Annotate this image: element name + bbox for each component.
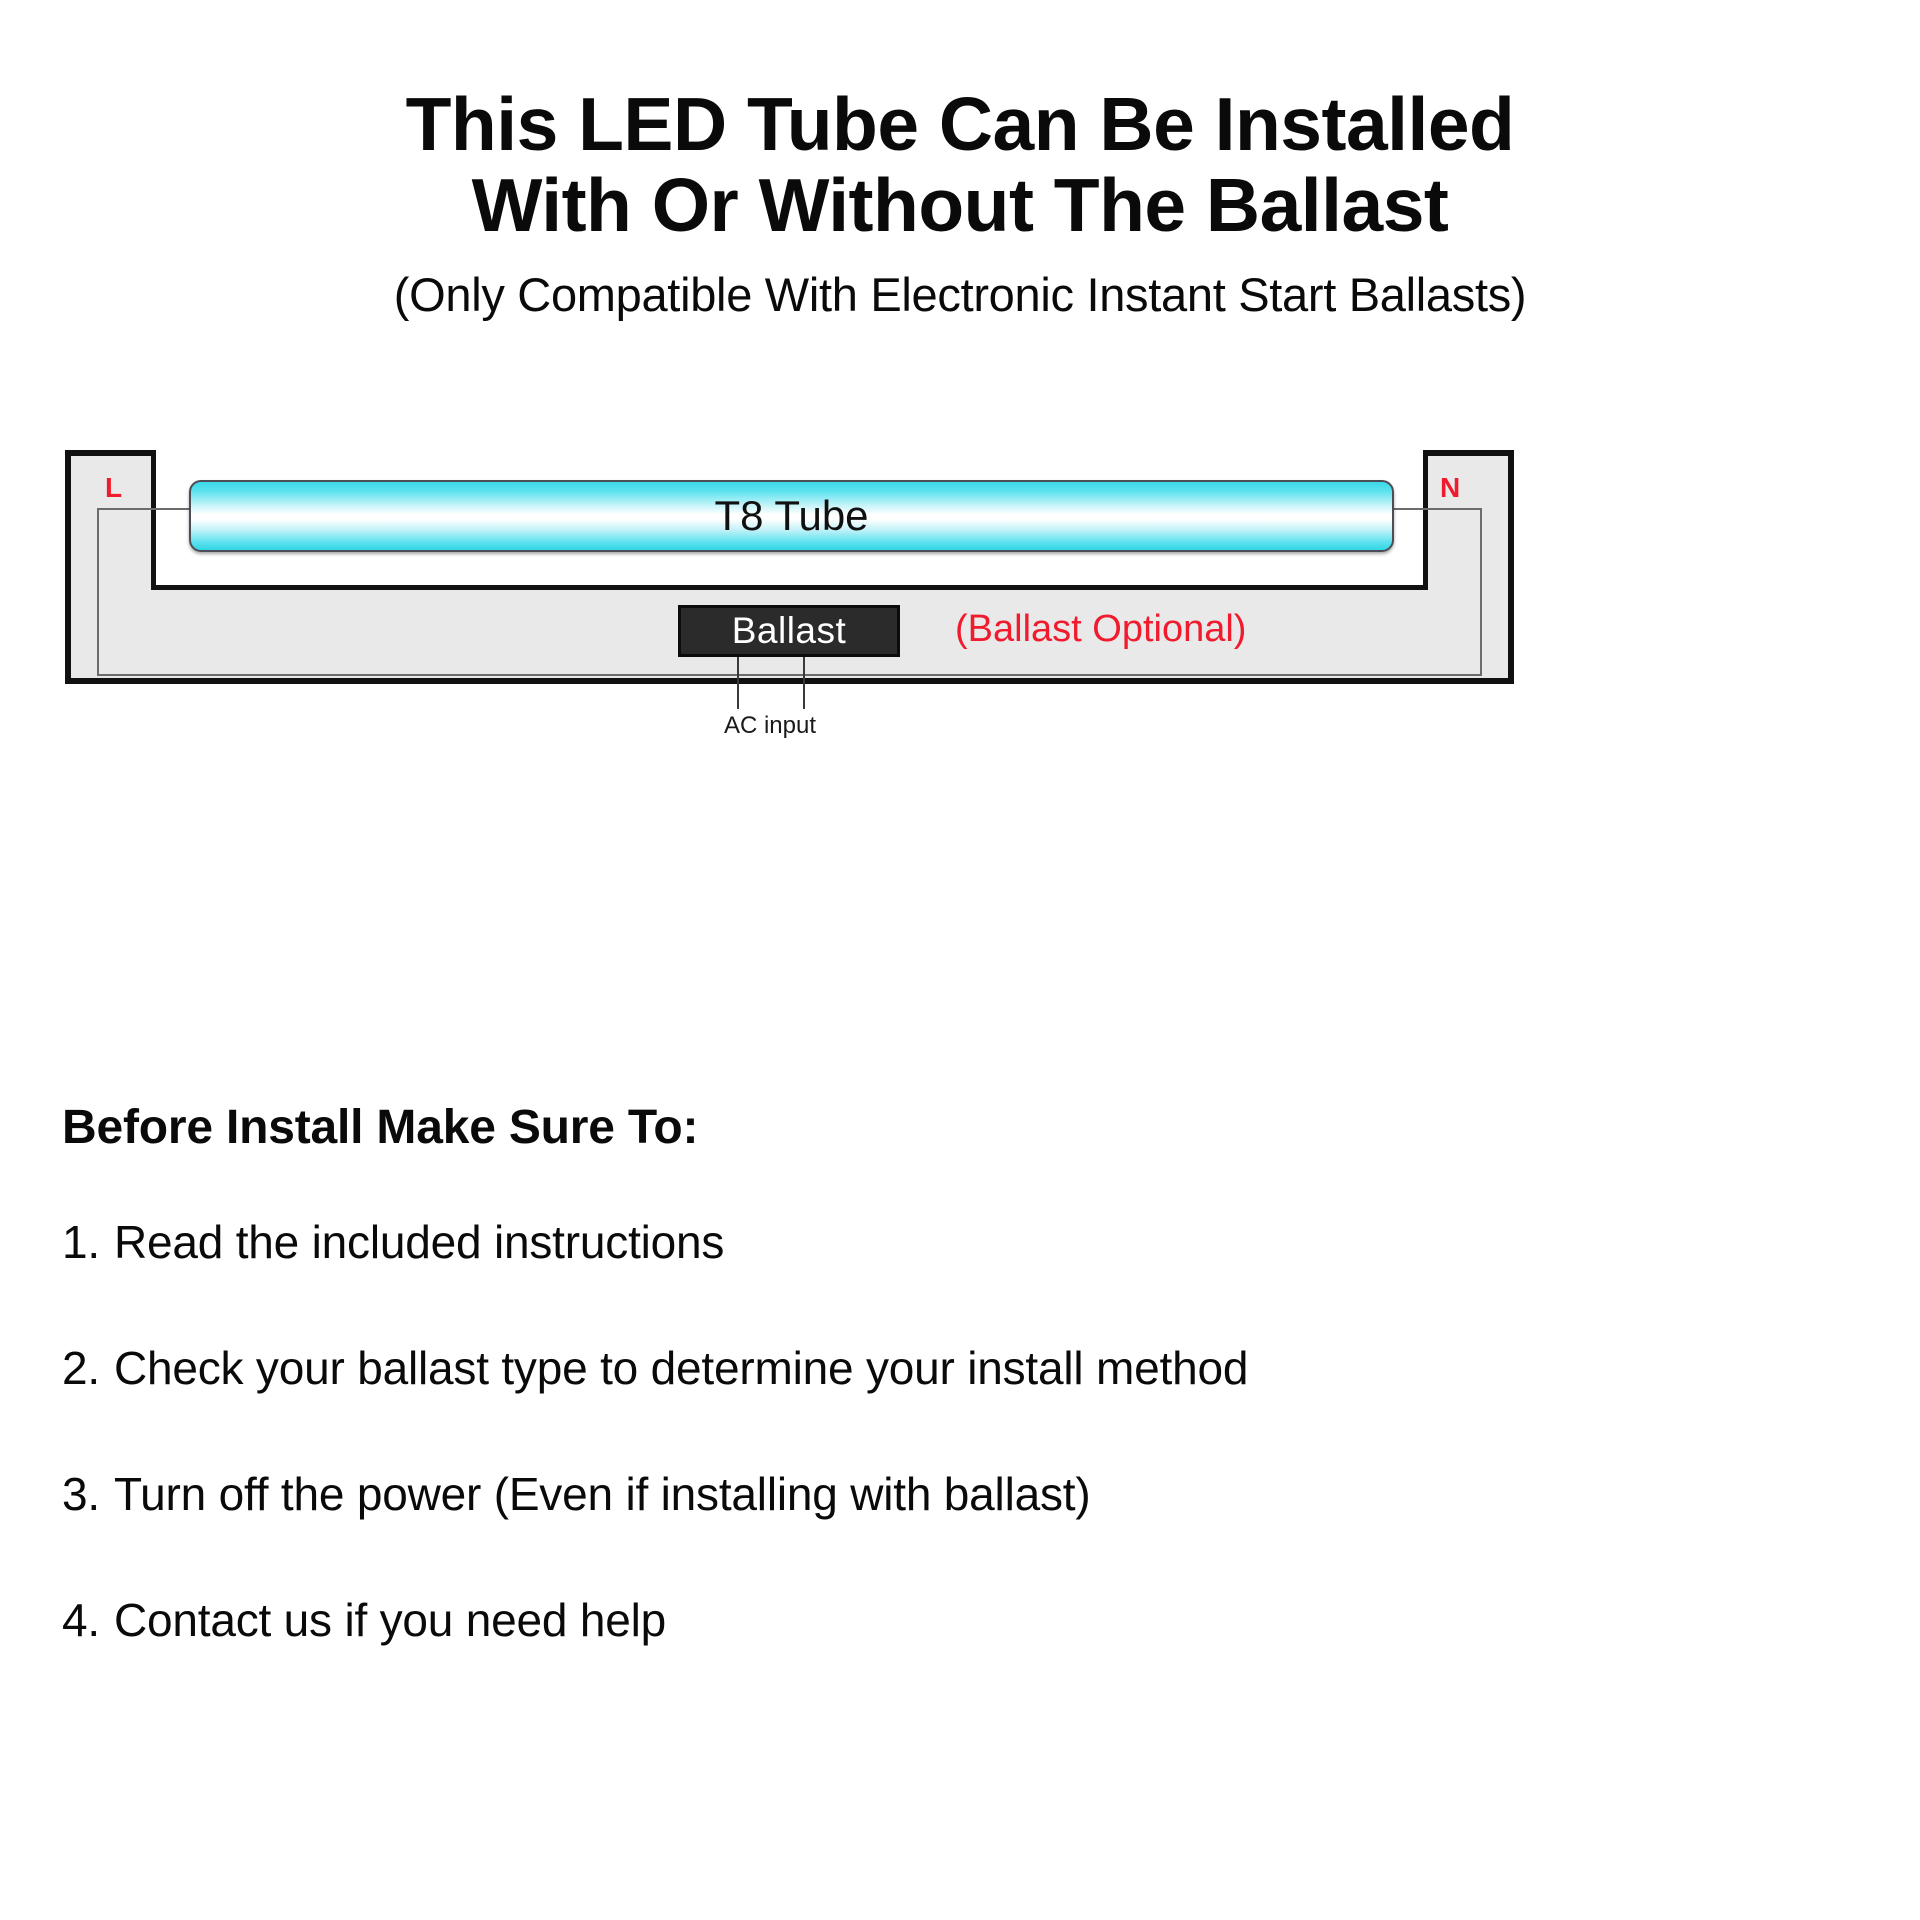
ballast-box: Ballast	[678, 605, 900, 657]
instruction-step-number: 1.	[62, 1215, 100, 1269]
page-title-line-2: With Or Without The Ballast	[472, 163, 1449, 247]
instruction-step-text: Check your ballast type to determine you…	[114, 1341, 1248, 1395]
terminal-label-neutral: N	[1440, 472, 1460, 504]
instruction-step: 4.Contact us if you need help	[62, 1593, 1862, 1647]
ac-input-lead-left	[737, 657, 739, 709]
instruction-step: 2.Check your ballast type to determine y…	[62, 1341, 1862, 1395]
instruction-step-number: 3.	[62, 1467, 100, 1521]
instructions-section: Before Install Make Sure To: 1.Read the …	[62, 1100, 1862, 1719]
instruction-step-text: Read the included instructions	[114, 1215, 724, 1269]
ballast-box-label: Ballast	[732, 610, 847, 652]
t8-tube-label: T8 Tube	[714, 492, 868, 540]
header: This LED Tube Can Be Installed With Or W…	[0, 84, 1920, 322]
wiring-diagram: L N T8 Tube Ballast (Ballast Optional) A…	[65, 440, 1515, 770]
page-title-line-1: This LED Tube Can Be Installed	[406, 82, 1515, 166]
instruction-step-number: 4.	[62, 1593, 100, 1647]
instruction-step-text: Contact us if you need help	[114, 1593, 666, 1647]
t8-tube: T8 Tube	[189, 480, 1394, 552]
ac-input-label: AC input	[675, 712, 865, 740]
instruction-step: 1.Read the included instructions	[62, 1215, 1862, 1269]
page-subtitle: (Only Compatible With Electronic Instant…	[0, 268, 1920, 322]
instructions-heading: Before Install Make Sure To:	[62, 1100, 1862, 1155]
instruction-step: 3.Turn off the power (Even if installing…	[62, 1467, 1862, 1521]
instruction-step-number: 2.	[62, 1341, 100, 1395]
ballast-optional-note: (Ballast Optional)	[955, 608, 1246, 651]
ac-input-lead-right	[803, 657, 805, 709]
terminal-label-line: L	[105, 472, 122, 504]
instruction-step-text: Turn off the power (Even if installing w…	[114, 1467, 1091, 1521]
page-title: This LED Tube Can Be Installed With Or W…	[0, 84, 1920, 246]
